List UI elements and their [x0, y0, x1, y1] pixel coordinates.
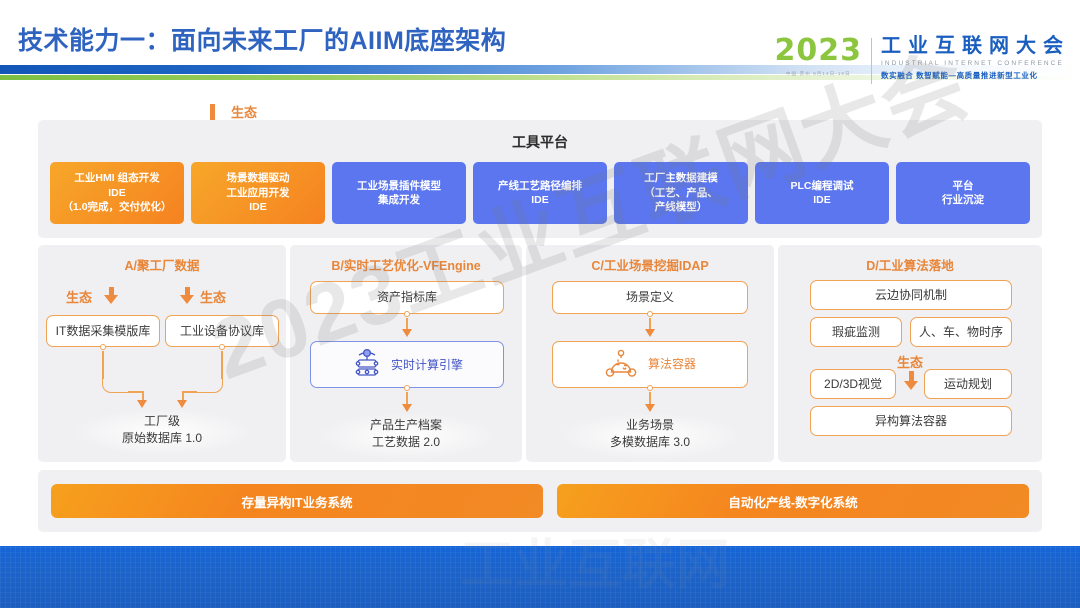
bottom-bar-automation[interactable]: 自动化产线-数字化系统 — [557, 484, 1029, 518]
section-a-eco-label-right: 生态 — [200, 287, 226, 306]
section-a-conn-right-h — [182, 391, 197, 393]
section-b-box-asset-indicator[interactable]: 资产指标库 — [310, 281, 504, 314]
bottom-bar-legacy-it[interactable]: 存量异构IT业务系统 — [51, 484, 543, 518]
section-b-engine-label: 实时计算引擎 — [391, 356, 463, 373]
section-d-eco-arrow-icon — [904, 371, 918, 390]
logo-year-block: 2023 中国·苏州 8月14日-16日 — [775, 36, 872, 77]
section-a-conn-left-h — [128, 391, 142, 393]
slide-header: 技术能力一：面向未来工厂的AIIM底座架构 2023 中国·苏州 8月14日-1… — [0, 0, 1080, 92]
section-d-box-heterogeneous-container[interactable]: 异构算法容器 — [810, 406, 1012, 436]
section-b-result-label: 产品生产档案 工艺数据 2.0 — [290, 417, 522, 451]
section-c-algorithm-container-box[interactable]: 算法容器 — [552, 341, 748, 388]
capability-sections-row: A/聚工厂数据 生态 生态 IT数据采集模版库 工业设备协议库 — [38, 245, 1042, 462]
legacy-systems-panel: 存量异构IT业务系统 自动化产线-数字化系统 — [38, 470, 1042, 532]
section-d-box-defect-detection[interactable]: 瑕疵监测 — [810, 317, 902, 347]
section-a-conn-right-corner — [196, 379, 223, 393]
section-c-conn-dot-1 — [647, 311, 653, 317]
logo-year: 2023 — [775, 36, 863, 66]
section-d-box-time-series[interactable]: 人、车、物时序 — [910, 317, 1012, 347]
section-a-eco-arrow-right-icon — [180, 287, 194, 304]
page-title: 技术能力一：面向未来工厂的AIIM底座架构 — [18, 21, 506, 57]
logo-year-subtitle: 中国·苏州 8月14日-16日 — [775, 71, 863, 77]
section-a-eco-arrow-left-icon — [104, 287, 118, 304]
section-c-arrow-1-icon — [645, 329, 655, 337]
section-panel-c: C/工业场景挖掘IDAP 场景定义 算法容器 — [526, 245, 774, 462]
section-c-conn-dot-2 — [647, 385, 653, 391]
section-c-box-scene-definition[interactable]: 场景定义 — [552, 281, 748, 314]
robot-container-icon — [604, 348, 638, 382]
logo-english-title: INDUSTRIAL INTERNET CONFERENCE — [881, 60, 1070, 67]
section-d-title: D/工业算法落地 — [778, 255, 1042, 274]
section-b-arrow-1-icon — [402, 329, 412, 337]
section-d-box-cloud-edge[interactable]: 云边协同机制 — [810, 280, 1012, 310]
architecture-diagram: 生态 工具平台 工业HMI 组态开发 IDE （1.0完成，交付优化） 场景数据… — [0, 92, 1080, 547]
footer-band — [0, 546, 1080, 608]
section-b-arrow-2-icon — [402, 404, 412, 412]
ecology-label: 生态 — [231, 102, 257, 121]
section-a-conn-dot-right — [219, 344, 225, 350]
tool-box-master-data[interactable]: 工厂主数据建模 （工艺、产品、 产线模型） — [614, 162, 748, 224]
tool-platform-title: 工具平台 — [38, 132, 1042, 152]
section-a-conn-right-v1 — [221, 351, 223, 379]
section-c-title: C/工业场景挖掘IDAP — [526, 255, 774, 274]
section-a-conn-left-v1 — [102, 351, 104, 379]
section-b-conn-dot-2 — [404, 385, 410, 391]
tool-box-hmi-ide[interactable]: 工业HMI 组态开发 IDE （1.0完成，交付优化） — [50, 162, 184, 224]
tool-platform-panel: 工具平台 工业HMI 组态开发 IDE （1.0完成，交付优化） 场景数据驱动 … — [38, 120, 1042, 238]
section-b-title: B/实时工艺优化-VFEngine — [290, 255, 522, 274]
tool-box-platform-industry[interactable]: 平台 行业沉淀 — [896, 162, 1030, 224]
section-d-box-motion-planning[interactable]: 运动规划 — [924, 369, 1012, 399]
tool-box-scene-data-app[interactable]: 场景数据驱动 工业应用开发 IDE — [191, 162, 325, 224]
section-c-container-label: 算法容器 — [648, 357, 696, 372]
section-a-box-it-template[interactable]: IT数据采集模版库 — [46, 315, 160, 347]
tool-box-plugin-model[interactable]: 工业场景插件模型 集成开发 — [332, 162, 466, 224]
section-panel-a: A/聚工厂数据 生态 生态 IT数据采集模版库 工业设备协议库 — [38, 245, 286, 462]
tool-box-process-route[interactable]: 产线工艺路径编排 IDE — [473, 162, 607, 224]
network-engine-icon — [351, 348, 383, 381]
section-a-arrow-right-icon — [177, 400, 187, 408]
section-a-conn-left-corner — [102, 379, 128, 393]
section-d-box-2d3d-vision[interactable]: 2D/3D视觉 — [810, 369, 896, 399]
section-c-result-label: 业务场景 多模数据库 3.0 — [526, 417, 774, 451]
logo-slogan: 数实融合 数智赋能—高质量推进新型工业化 — [881, 70, 1070, 81]
section-a-title: A/聚工厂数据 — [38, 255, 286, 274]
logo-divider — [871, 38, 872, 84]
conference-logo: 2023 中国·苏州 8月14日-16日 工业互联网大会 INDUSTRIAL … — [775, 36, 1071, 86]
section-b-conn-dot-1 — [404, 311, 410, 317]
section-panel-b: B/实时工艺优化-VFEngine 资产指标库 — [290, 245, 522, 462]
section-a-result-label: 工厂级 原始数据库 1.0 — [38, 413, 286, 447]
section-a-conn-dot-left — [100, 344, 106, 350]
section-a-eco-label-left: 生态 — [66, 287, 92, 306]
tool-platform-box-row: 工业HMI 组态开发 IDE （1.0完成，交付优化） 场景数据驱动 工业应用开… — [50, 162, 1030, 224]
section-panel-d: D/工业算法落地 云边协同机制 瑕疵监测 人、车、物时序 生态 2D/3D视觉 … — [778, 245, 1042, 462]
section-a-arrow-left-icon — [137, 400, 147, 408]
logo-text-block: 工业互联网大会 INDUSTRIAL INTERNET CONFERENCE 数… — [881, 36, 1070, 81]
section-a-box-device-protocol[interactable]: 工业设备协议库 — [165, 315, 279, 347]
section-c-arrow-2-icon — [645, 404, 655, 412]
logo-main-title: 工业互联网大会 — [881, 36, 1070, 57]
section-b-engine-box[interactable]: 实时计算引擎 — [310, 341, 504, 388]
tool-box-plc-ide[interactable]: PLC编程调试 IDE — [755, 162, 889, 224]
